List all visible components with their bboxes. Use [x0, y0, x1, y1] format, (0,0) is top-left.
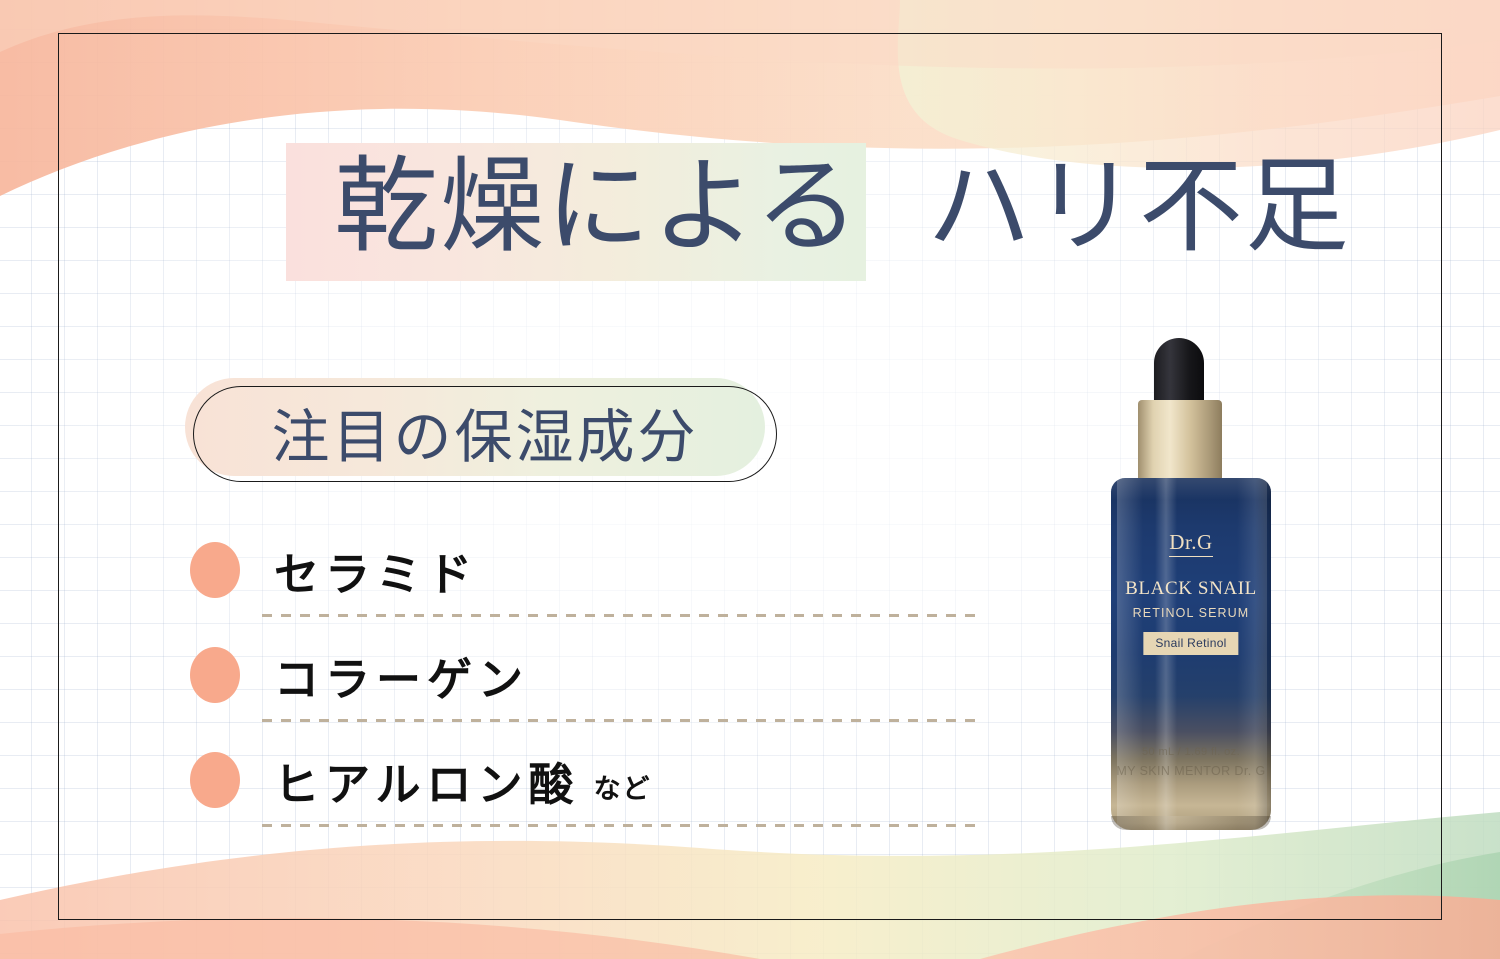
- poster-canvas: 乾燥によるハリ不足 注目の保湿成分 セラミド コラーゲン ヒアルロン酸: [0, 0, 1500, 959]
- bottle-volume-text: 50 mL / 1.69 fl. oz.: [1111, 746, 1271, 758]
- list-item-separator: [262, 824, 978, 827]
- list-item-label: コラーゲン: [274, 633, 529, 717]
- ingredient-list: セラミド コラーゲン ヒアルロン酸 など: [190, 528, 990, 843]
- bottle-brand-text: Dr.G: [1169, 530, 1212, 557]
- bullet-circle-icon: [190, 542, 240, 598]
- bottle-ingredient-badge: Snail Retinol: [1143, 632, 1238, 655]
- headline: 乾燥によるハリ不足: [286, 132, 1346, 284]
- bottle-base-shadow: [1111, 816, 1271, 830]
- list-item-separator: [262, 719, 978, 722]
- bullet-circle-icon: [190, 647, 240, 703]
- list-item: セラミド: [190, 528, 990, 633]
- ingredient-name: コラーゲン: [274, 643, 529, 708]
- list-item-label: ヒアルロン酸 など: [274, 738, 652, 822]
- ingredient-suffix: など: [594, 767, 652, 806]
- list-item: ヒアルロン酸 など: [190, 738, 990, 843]
- list-item-label: セラミド: [274, 528, 478, 612]
- bottle-body: Dr.G BLACK SNAIL RETINOL SERUM Snail Ret…: [1111, 478, 1271, 830]
- section-pill-label: 注目の保湿成分: [193, 386, 777, 482]
- headline-highlighted-text: 乾燥による: [334, 150, 861, 265]
- product-bottle: Dr.G BLACK SNAIL RETINOL SERUM Snail Ret…: [1106, 338, 1276, 830]
- bottle-brand: Dr.G: [1111, 530, 1271, 555]
- list-item-separator: [262, 614, 978, 617]
- bullet-circle-icon: [190, 752, 240, 808]
- list-item: コラーゲン: [190, 633, 990, 738]
- bottle-tagline-text: MY SKIN MENTOR Dr. G: [1111, 764, 1271, 778]
- ingredient-name: セラミド: [274, 538, 478, 603]
- headline-text: 乾燥によるハリ不足: [286, 132, 1346, 284]
- ingredient-name: ヒアルロン酸: [274, 748, 580, 813]
- bottle-product-subtitle: RETINOL SERUM: [1111, 606, 1271, 620]
- bottle-gold-collar: [1138, 400, 1222, 482]
- bottle-product-name: BLACK SNAIL: [1111, 578, 1271, 600]
- headline-plain-text: ハリ不足: [927, 150, 1351, 265]
- section-pill: 注目の保湿成分: [185, 378, 785, 484]
